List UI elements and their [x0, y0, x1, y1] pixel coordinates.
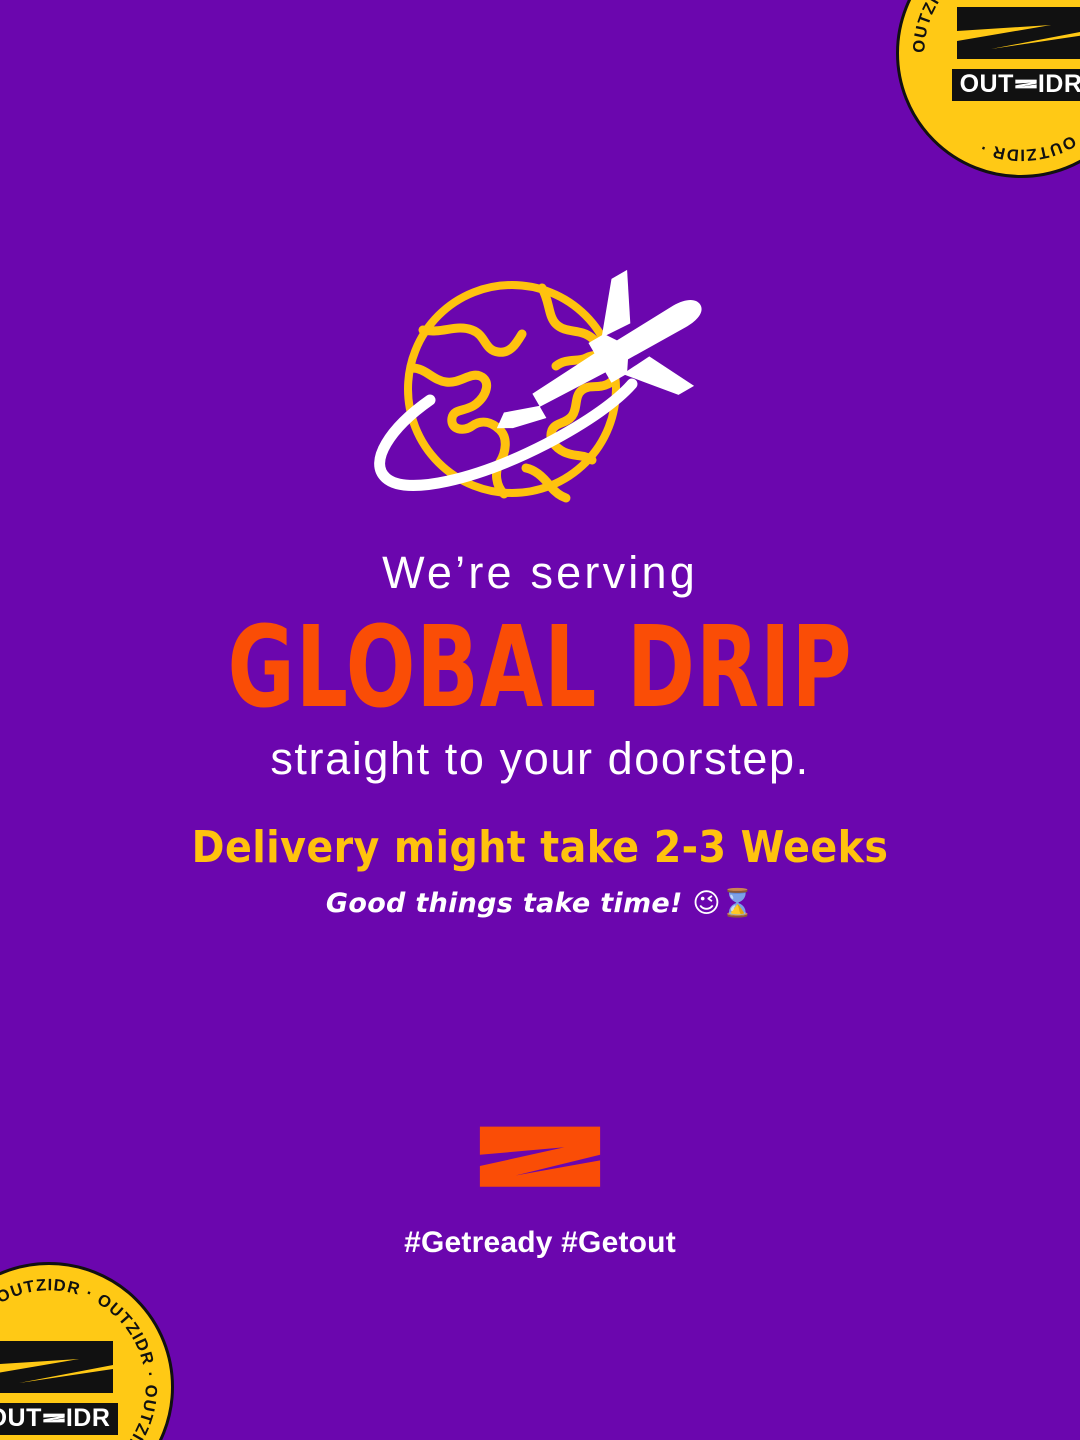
badge-wordmark-after: IDR	[1038, 70, 1080, 98]
delivery-notice-text: Delivery might take 2-3 Weeks	[0, 824, 1080, 872]
z-mark-inline-icon	[1015, 77, 1037, 94]
badge-core-top-right: OUTIDR	[946, 5, 1080, 101]
z-mark-icon	[0, 1339, 115, 1413]
headline-block: We’re serving GLOBAL DRIP straight to yo…	[0, 548, 1080, 785]
delivery-notice-block: Delivery might take 2-3 Weeks Good thing…	[0, 824, 1080, 921]
badge-wordmark-after: IDR	[66, 1404, 111, 1432]
hero-illustration	[0, 272, 1080, 512]
z-mark-icon	[955, 5, 1080, 79]
footer-brand-block: #Getready #Getout	[0, 1122, 1080, 1258]
delivery-note-text: Good things take time! 😉⌛	[0, 888, 1080, 920]
page-title: GLOBAL DRIP	[5, 612, 1074, 724]
badge-bottom-left: OUTZIDR · OUTZIDR · OUTZIDR · OUTZIDR · …	[0, 1262, 174, 1440]
delivery-note-label: Good things take time!	[326, 888, 683, 919]
badge-wordmark-before: OUT	[0, 1404, 42, 1432]
eyebrow-text: We’re serving	[0, 548, 1080, 598]
z-mark-inline-icon	[43, 1411, 65, 1428]
footer-tagline: #Getready #Getout	[0, 1228, 1080, 1258]
delivery-note-emoji: 😉⌛	[692, 888, 754, 919]
badge-wordmark: OUTIDR	[952, 69, 1080, 101]
badge-top-right: OUTZIDR · OUTZIDR · OUTZIDR · OUTZIDR · …	[896, 0, 1080, 178]
badge-wordmark: OUTIDR	[0, 1403, 118, 1435]
badge-core-bottom-left: OUTIDR	[0, 1339, 124, 1435]
globe-icon	[408, 285, 616, 498]
globe-airplane-icon	[360, 272, 720, 512]
badge-wordmark-before: OUT	[960, 70, 1014, 98]
poster-canvas: OUTZIDR · OUTZIDR · OUTZIDR · OUTZIDR · …	[0, 0, 1080, 1440]
outzidr-z-logo-icon	[478, 1122, 602, 1212]
subhead-text: straight to your doorstep.	[0, 734, 1080, 784]
